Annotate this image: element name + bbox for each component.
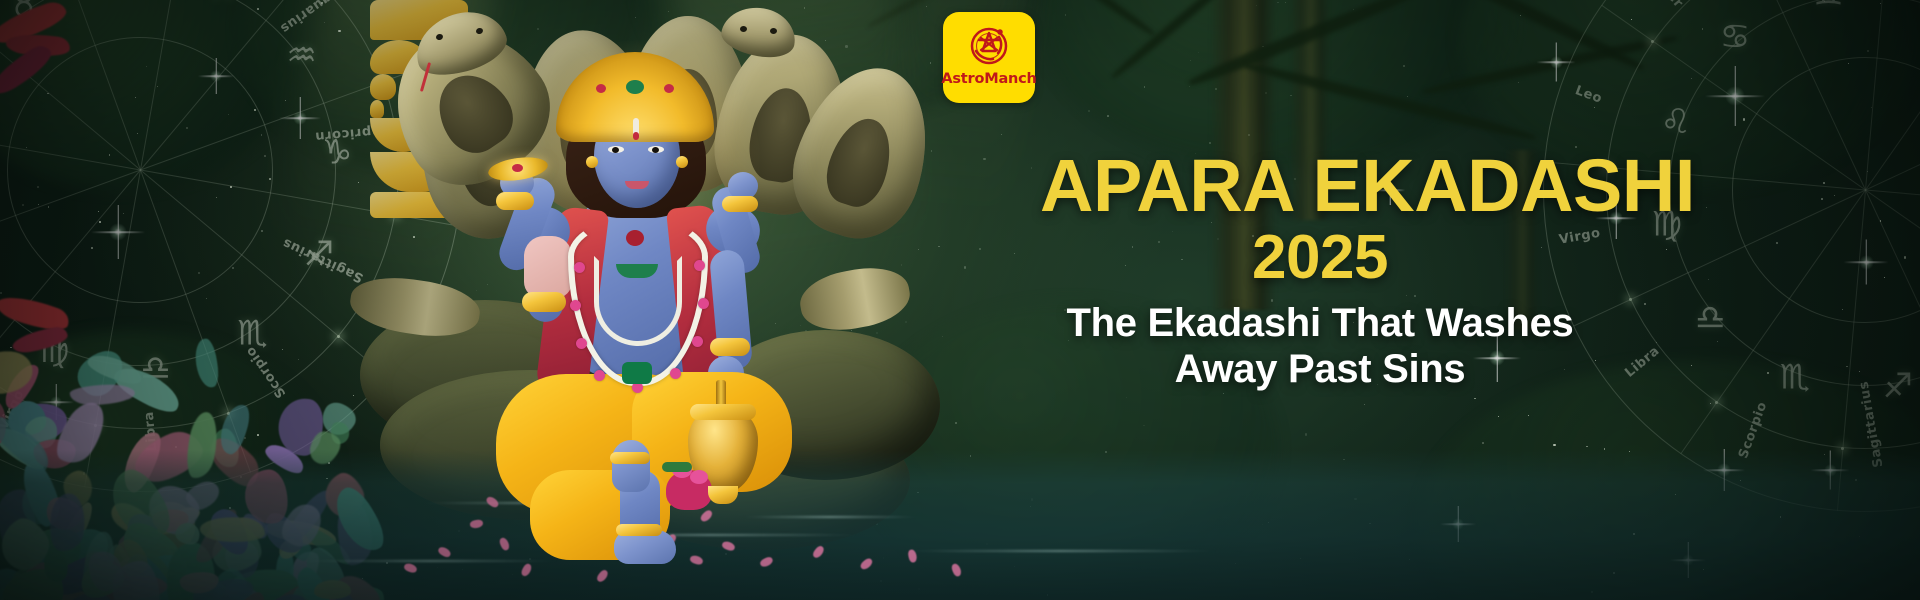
subtitle-line-2: Away Past Sins bbox=[1040, 346, 1600, 392]
page-title: APARA EKADASHI bbox=[1040, 150, 1600, 223]
headline-block: APARA EKADASHI 2025 The Ekadashi That Wa… bbox=[1040, 150, 1600, 393]
astromanch-logo[interactable]: AstroManch bbox=[943, 12, 1035, 103]
vishnu-foot-upper bbox=[612, 440, 650, 492]
apara-ekadashi-banner: ♈Aries♓Pisces♒Aquarius♑Capricorn♐Sagitta… bbox=[0, 0, 1920, 600]
astromanch-wordmark: AstroManch bbox=[941, 71, 1036, 87]
year-label: 2025 bbox=[1040, 223, 1600, 292]
subtitle-line-1: The Ekadashi That Washes bbox=[1040, 300, 1600, 346]
subtitle: The Ekadashi That Washes Away Past Sins bbox=[1040, 300, 1600, 393]
vishnu-hand-abhaya bbox=[524, 236, 572, 298]
astromanch-emblem-icon bbox=[964, 20, 1014, 70]
